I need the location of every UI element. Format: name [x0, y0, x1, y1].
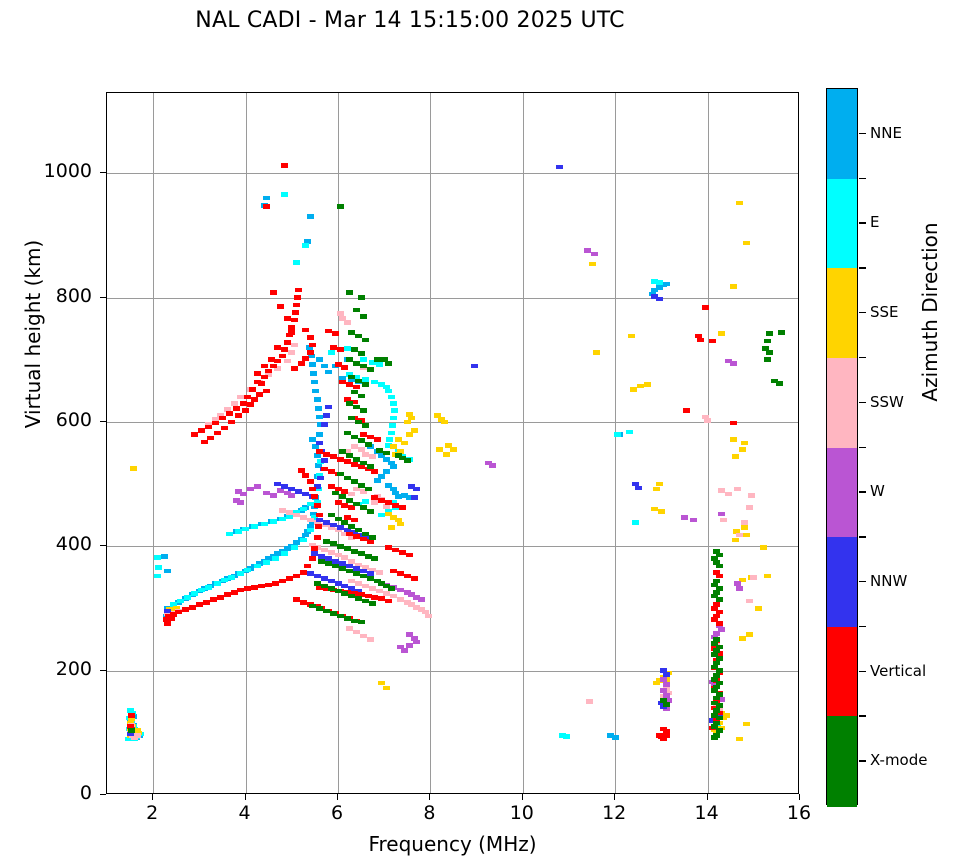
echo-mark: [656, 733, 663, 738]
echo-mark: [663, 672, 670, 677]
y-axis-tick: [100, 297, 106, 298]
echo-mark: [355, 581, 362, 586]
echo-mark: [353, 534, 360, 539]
echo-mark: [309, 556, 316, 561]
echo-mark: [360, 357, 367, 362]
gridline-vertical: [708, 93, 709, 793]
echo-mark: [207, 436, 214, 441]
echo-mark: [397, 588, 404, 593]
echo-mark: [325, 405, 332, 410]
echo-mark: [376, 362, 383, 367]
echo-mark: [378, 681, 385, 686]
y-axis-tick: [100, 794, 106, 795]
echo-mark: [265, 369, 272, 374]
echo-mark: [764, 357, 771, 362]
echo-mark: [399, 505, 406, 510]
echo-mark: [307, 518, 314, 523]
gridline-vertical: [246, 93, 247, 793]
echo-mark: [263, 491, 270, 496]
echo-mark: [746, 599, 753, 604]
ionogram-plot-area[interactable]: [106, 92, 799, 794]
echo-mark: [315, 524, 322, 529]
echo-mark: [711, 735, 718, 740]
echo-mark: [736, 201, 743, 206]
echo-mark: [339, 380, 346, 385]
echo-mark: [295, 489, 302, 494]
echo-mark: [367, 576, 374, 581]
echo-mark: [323, 413, 330, 418]
echo-mark: [263, 389, 270, 394]
echo-mark: [351, 347, 358, 352]
echo-mark: [743, 533, 750, 538]
echo-mark: [307, 502, 314, 507]
echo-mark: [128, 728, 135, 733]
echo-mark: [205, 425, 212, 430]
echo-mark: [418, 597, 425, 602]
echo-mark: [293, 597, 300, 602]
echo-mark: [401, 441, 408, 446]
echo-mark: [713, 708, 720, 713]
echo-mark: [309, 487, 316, 492]
echo-mark: [718, 512, 725, 517]
echo-mark: [321, 422, 328, 427]
gridline-vertical: [430, 93, 431, 793]
echo-mark: [351, 549, 358, 554]
echo-mark: [279, 354, 286, 359]
echo-mark: [764, 339, 771, 344]
echo-mark: [385, 545, 392, 550]
echo-mark: [732, 538, 739, 543]
echo-mark: [314, 503, 321, 508]
echo-mark: [386, 437, 393, 442]
echo-mark: [556, 165, 563, 170]
echo-mark: [294, 295, 301, 300]
echo-mark: [704, 418, 711, 423]
echo-mark: [353, 308, 360, 313]
echo-mark: [337, 311, 344, 316]
echo-mark: [351, 479, 358, 484]
echo-mark: [258, 381, 265, 386]
echo-mark: [358, 620, 365, 625]
echo-mark: [388, 395, 395, 400]
echo-mark: [337, 525, 344, 530]
echo-mark: [281, 163, 288, 168]
echo-mark: [376, 570, 383, 575]
echo-mark: [277, 304, 284, 309]
echo-mark: [288, 325, 295, 330]
echo-mark: [358, 394, 365, 399]
x-axis-tick: [522, 794, 523, 800]
echo-mark: [300, 570, 307, 575]
echo-mark: [244, 568, 251, 573]
colorbar-tick: [859, 222, 866, 223]
echo-mark: [632, 520, 639, 525]
gridline-horizontal: [107, 173, 798, 174]
echo-mark: [328, 513, 335, 518]
echo-mark: [268, 357, 275, 362]
echo-mark: [339, 566, 346, 571]
echo-mark: [383, 469, 390, 474]
echo-mark: [388, 431, 395, 436]
echo-mark: [406, 553, 413, 558]
echo-mark: [734, 581, 741, 586]
echo-mark: [307, 350, 314, 355]
echo-mark: [307, 528, 314, 533]
colorbar-band-separator-tick: [859, 267, 866, 268]
echo-mark: [341, 365, 348, 370]
colorbar-label-ssw: SSW: [870, 393, 904, 411]
echo-mark: [390, 416, 397, 421]
colorbar-band-e[interactable]: [827, 179, 857, 269]
echo-mark: [323, 539, 330, 544]
echo-mark: [351, 619, 358, 624]
echo-mark: [247, 402, 254, 407]
echo-mark: [716, 574, 723, 579]
echo-mark: [358, 447, 365, 452]
echo-mark: [720, 518, 727, 523]
echo-mark: [471, 364, 478, 369]
echo-mark: [764, 574, 771, 579]
echo-mark: [730, 421, 737, 426]
echo-mark: [760, 545, 767, 550]
echo-mark: [307, 335, 314, 340]
echo-mark: [323, 609, 330, 614]
echo-mark: [323, 452, 330, 457]
echo-mark: [725, 492, 732, 497]
echo-mark: [365, 594, 372, 599]
echo-mark: [300, 507, 307, 512]
colorbar-band-sse[interactable]: [827, 268, 857, 358]
echo-mark: [325, 561, 332, 566]
echo-mark: [312, 389, 319, 394]
echo-mark: [362, 338, 369, 343]
echo-mark: [274, 345, 281, 350]
echo-mark: [339, 449, 346, 454]
echo-mark: [321, 548, 328, 553]
echo-mark: [385, 599, 392, 604]
echo-mark: [292, 310, 299, 315]
echo-mark: [660, 677, 667, 682]
echo-mark: [589, 262, 596, 267]
colorbar-band-ssw[interactable]: [827, 358, 857, 448]
echo-mark: [164, 569, 171, 574]
echo-mark: [339, 561, 346, 566]
echo-mark: [254, 484, 261, 489]
colorbar-tick: [859, 581, 866, 582]
echo-mark: [653, 487, 660, 492]
echo-mark: [367, 464, 374, 469]
echo-mark: [337, 347, 344, 352]
echo-mark: [367, 435, 374, 440]
x-axis-tick-label: 12: [594, 802, 634, 824]
echo-mark: [284, 340, 291, 345]
echo-mark: [355, 596, 362, 601]
azimuth-colorbar[interactable]: [826, 88, 858, 805]
echo-mark: [251, 585, 258, 590]
echo-mark: [716, 621, 723, 626]
echo-mark: [365, 554, 372, 559]
echo-mark: [739, 447, 746, 452]
echo-mark: [311, 380, 318, 385]
echo-mark: [293, 303, 300, 308]
echo-mark: [378, 513, 385, 518]
echo-mark: [284, 359, 291, 364]
echo-mark: [369, 535, 376, 540]
colorbar-tick: [859, 491, 866, 492]
echo-mark: [397, 522, 404, 527]
echo-mark: [265, 583, 272, 588]
echo-mark: [310, 371, 317, 376]
echo-mark: [235, 413, 242, 418]
x-axis-title: Frequency (MHz): [106, 832, 799, 856]
colorbar-title: Azimuth Direction: [918, 172, 942, 452]
echo-mark: [716, 597, 723, 602]
echo-mark: [284, 316, 291, 321]
echo-mark: [295, 288, 302, 293]
echo-mark: [231, 401, 238, 406]
echo-mark: [739, 636, 746, 641]
echo-mark: [182, 607, 189, 612]
echo-mark: [385, 389, 392, 394]
echo-mark: [663, 702, 670, 707]
echo-mark: [328, 586, 335, 591]
colorbar-band-nne[interactable]: [827, 89, 857, 179]
echo-mark: [362, 377, 369, 382]
echo-mark: [404, 458, 411, 463]
echo-mark: [374, 357, 381, 362]
echo-mark: [291, 545, 298, 550]
x-axis-tick-label: 8: [409, 802, 449, 824]
echo-mark: [369, 454, 376, 459]
x-axis-tick-label: 14: [687, 802, 727, 824]
echo-mark: [681, 515, 688, 520]
echo-mark: [316, 432, 323, 437]
echo-mark: [697, 338, 704, 343]
echo-mark: [321, 458, 328, 463]
x-axis-tick-label: 4: [225, 802, 265, 824]
echo-mark: [369, 601, 376, 606]
echo-mark: [237, 588, 244, 593]
echo-mark: [365, 442, 372, 447]
y-axis-tick: [100, 545, 106, 546]
echo-mark: [309, 437, 316, 442]
echo-mark: [344, 320, 351, 325]
colorbar-band-w[interactable]: [827, 448, 857, 538]
echo-mark: [406, 432, 413, 437]
x-axis-tick: [707, 794, 708, 800]
echo-mark: [293, 513, 300, 518]
echo-mark: [663, 682, 670, 687]
colorbar-band-separator-tick: [859, 626, 866, 627]
echo-mark: [401, 648, 408, 653]
echo-mark: [741, 525, 748, 530]
echo-mark: [263, 204, 270, 209]
echo-mark: [311, 494, 318, 499]
colorbar-label-nne: NNE: [870, 124, 902, 142]
echo-mark: [367, 509, 374, 514]
echo-mark: [378, 596, 385, 601]
echo-mark: [353, 361, 360, 366]
echo-mark: [328, 350, 335, 355]
echo-mark: [353, 405, 360, 410]
echo-mark: [341, 489, 348, 494]
echo-mark: [584, 248, 591, 253]
echo-mark: [128, 713, 135, 718]
echo-mark: [741, 520, 748, 525]
gridline-vertical: [523, 93, 524, 793]
echo-mark: [224, 592, 231, 597]
echo-mark: [360, 408, 367, 413]
echo-mark: [309, 604, 316, 609]
echo-mark: [242, 408, 249, 413]
echo-mark: [281, 347, 288, 352]
echo-mark: [337, 204, 344, 209]
echo-mark: [205, 585, 212, 590]
echo-mark: [355, 379, 362, 384]
echo-mark: [369, 586, 376, 591]
echo-mark: [325, 556, 332, 561]
echo-mark: [360, 314, 367, 319]
echo-mark: [321, 584, 328, 589]
echo-mark: [353, 566, 360, 571]
echo-mark: [307, 214, 314, 219]
colorbar-tick: [859, 402, 866, 403]
echo-mark: [358, 295, 365, 300]
x-axis-tick-label: 10: [502, 802, 542, 824]
colorbar-band-separator-tick: [859, 357, 866, 358]
colorbar-band-vertical[interactable]: [827, 627, 857, 717]
echo-mark: [237, 500, 244, 505]
echo-mark: [274, 359, 281, 364]
y-axis-tick-label: 1000: [22, 160, 92, 182]
page-title: NAL CADI - Mar 14 15:15:00 2025 UTC: [0, 8, 820, 33]
echo-mark: [221, 426, 228, 431]
echo-mark: [351, 518, 358, 523]
echo-mark: [325, 329, 332, 334]
echo-mark: [776, 381, 783, 386]
echo-mark: [563, 734, 570, 739]
gridline-vertical: [615, 93, 616, 793]
echo-mark: [161, 554, 168, 559]
echo-mark: [425, 614, 432, 619]
echo-mark: [311, 546, 318, 551]
echo-mark: [228, 420, 235, 425]
echo-mark: [311, 551, 318, 556]
echo-mark: [383, 591, 390, 596]
echo-mark: [656, 280, 663, 285]
echo-mark: [362, 423, 369, 428]
echo-mark: [316, 513, 323, 518]
echo-mark: [413, 640, 420, 645]
echo-mark: [337, 614, 344, 619]
gridline-vertical: [338, 93, 339, 793]
echo-mark: [196, 602, 203, 607]
echo-mark: [741, 441, 748, 446]
echo-mark: [716, 668, 723, 673]
colorbar-band-x-mode[interactable]: [827, 716, 857, 806]
echo-mark: [736, 533, 743, 538]
echo-mark: [316, 441, 323, 446]
echo-mark: [399, 550, 406, 555]
colorbar-label-x-mode: X-mode: [870, 751, 927, 769]
echo-mark: [270, 364, 277, 369]
echo-mark: [716, 716, 723, 721]
echo-mark: [341, 555, 348, 560]
echo-scatter-canvas: [107, 93, 798, 793]
echo-mark: [191, 432, 198, 437]
echo-mark: [293, 574, 300, 579]
echo-mark: [362, 499, 369, 504]
x-axis-tick-label: 2: [132, 802, 172, 824]
echo-mark: [321, 467, 328, 472]
echo-mark: [388, 586, 395, 591]
echo-mark: [746, 505, 753, 510]
y-axis-tick: [100, 670, 106, 671]
echo-mark: [723, 713, 730, 718]
colorbar-label-e: E: [870, 213, 879, 231]
x-axis-tick: [337, 794, 338, 800]
echo-mark: [353, 502, 360, 507]
echo-mark: [212, 421, 219, 426]
echo-mark: [302, 243, 309, 248]
colorbar-tick: [859, 671, 866, 672]
echo-mark: [177, 599, 184, 604]
echo-mark: [734, 487, 741, 492]
echo-mark: [411, 495, 418, 500]
echo-mark: [390, 464, 397, 469]
echo-mark: [323, 520, 330, 525]
echo-mark: [317, 476, 324, 481]
echo-mark: [766, 350, 773, 355]
echo-mark: [281, 484, 288, 489]
echo-mark: [314, 397, 321, 402]
echo-mark: [219, 416, 226, 421]
echo-mark: [328, 484, 335, 489]
echo-mark: [242, 527, 249, 532]
echo-mark: [291, 318, 298, 323]
echo-mark: [683, 408, 690, 413]
echo-mark: [328, 550, 335, 555]
echo-mark: [272, 556, 279, 561]
echo-mark: [300, 538, 307, 543]
echo-mark: [263, 196, 270, 201]
colorbar-band-separator-tick: [859, 715, 866, 716]
echo-mark: [755, 606, 762, 611]
echo-mark: [656, 297, 663, 302]
echo-mark: [378, 498, 385, 503]
echo-mark: [270, 519, 277, 524]
echo-mark: [653, 681, 660, 686]
echo-mark: [389, 423, 396, 428]
echo-mark: [656, 482, 663, 487]
colorbar-band-nnw[interactable]: [827, 537, 857, 627]
echo-mark: [450, 447, 457, 452]
echo-mark: [736, 586, 743, 591]
y-axis-tick-label: 0: [22, 782, 92, 804]
echo-mark: [441, 420, 448, 425]
echo-mark: [288, 330, 295, 335]
gridline-horizontal: [107, 298, 798, 299]
echo-mark: [251, 524, 258, 529]
echo-mark: [332, 331, 339, 336]
echo-mark: [240, 401, 247, 406]
echo-mark: [702, 305, 709, 310]
colorbar-label-vertical: Vertical: [870, 662, 926, 680]
echo-mark: [362, 382, 369, 387]
echo-mark: [351, 435, 358, 440]
echo-mark: [279, 508, 286, 513]
colorbar-tick: [859, 133, 866, 134]
